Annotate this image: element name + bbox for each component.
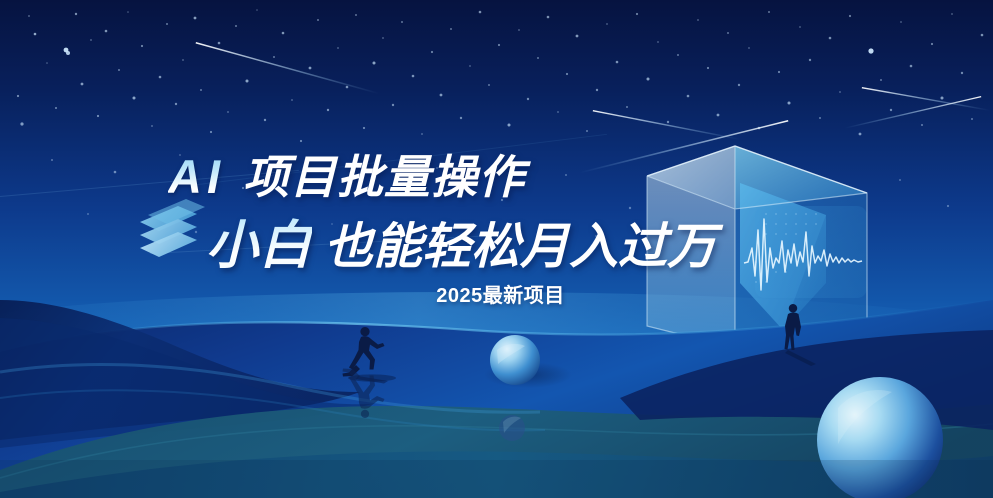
mid-sphere	[499, 415, 525, 441]
ai-promo-poster: AI 项目批量操作 小白 也能轻松月入过万 2025最新项目	[0, 0, 993, 498]
scene-illustration	[0, 0, 993, 498]
bottom-vignette	[0, 460, 993, 498]
